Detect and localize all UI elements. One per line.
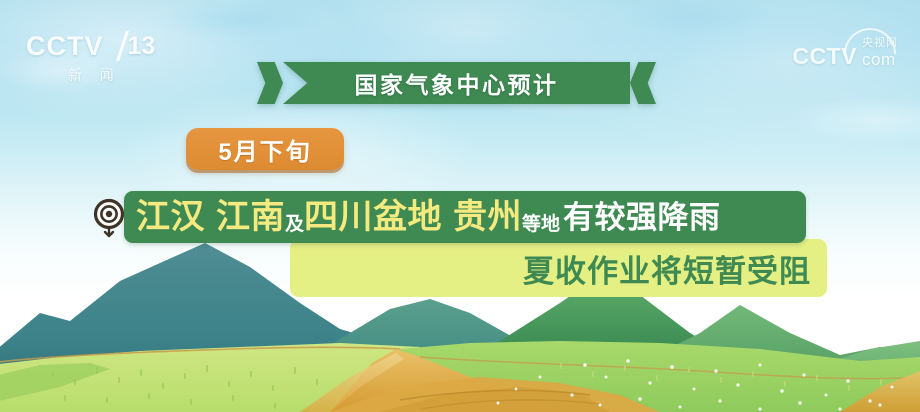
region-4: 贵州 <box>453 200 522 234</box>
connector-2: 等地 <box>522 215 560 243</box>
cctv-wordmark: CCTV <box>26 33 104 60</box>
subline-text: 夏收作业将短暂受阻 <box>523 246 811 291</box>
logo-row: CCTV 13 <box>26 31 155 61</box>
region-2: 江南 <box>216 200 285 234</box>
connector-1: 及 <box>285 215 304 243</box>
date-tag-label: 5月下旬 <box>218 132 311 167</box>
location-pin-icon <box>92 196 126 240</box>
channel-number: 13 <box>128 34 156 59</box>
broadcast-graphic: CCTV 13 新 闻 CCTV 央视网 com 国家气象中心预计 5月下旬 <box>0 0 920 412</box>
banner-label: 国家气象中心预计 <box>355 66 559 100</box>
source-banner: 国家气象中心预计 <box>283 62 630 104</box>
cctv-13-logo: CCTV 13 新 闻 <box>26 31 155 85</box>
logo-slash-icon <box>104 31 129 61</box>
cctv-com-logo: CCTV 央视网 com <box>792 38 898 68</box>
subline-band: 夏收作业将短暂受阻 <box>290 239 827 297</box>
date-tag: 5月下旬 <box>186 128 344 170</box>
forecast-text: 有较强降雨 <box>563 202 721 233</box>
region-1: 江汉 <box>136 200 205 234</box>
headline-band: 江汉 江南 及 四川盆地 贵州 等地 有较强降雨 <box>124 191 806 243</box>
region-3: 四川盆地 <box>304 200 442 234</box>
channel-name: 新 闻 <box>61 65 121 85</box>
